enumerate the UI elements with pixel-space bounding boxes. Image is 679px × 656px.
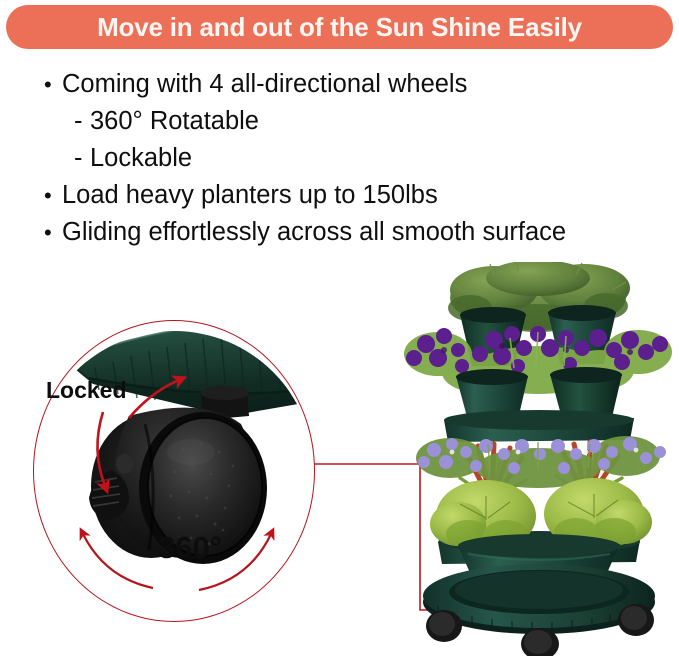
feature-list: • Coming with 4 all-directional wheels -… [44,72,674,257]
planter-tower-image [398,262,679,656]
feature-label: Lockable [90,146,192,172]
tier-purple-petunias [404,326,672,442]
bullet-dash-icon: - [74,146,90,172]
bullet-dot-icon: • [44,185,62,207]
bullet-dot-icon: • [44,222,62,244]
locked-label: Locked [46,379,127,402]
feature-label: Load heavy planters up to 150lbs [62,183,438,209]
page-title: Move in and out of the Sun Shine Easily [97,14,582,40]
tier-lavender-lobelia [416,436,666,488]
wheeled-base-caddy [423,564,655,656]
stackable-planter-illustration [398,262,679,656]
feature-label: 360° Rotatable [90,109,259,135]
bullet-dash-icon: - [74,109,90,135]
list-item: - Lockable [44,146,674,183]
rotation-degree-label: 360° [158,532,222,563]
list-item: • Gliding effortlessly across all smooth… [44,220,674,257]
header-banner: Move in and out of the Sun Shine Easily [6,5,673,49]
list-item: • Load heavy planters up to 150lbs [44,183,674,220]
caster-wheel [618,604,654,636]
bullet-dot-icon: • [44,74,62,96]
callout-ring-circle [33,320,315,622]
feature-label: Gliding effortlessly across all smooth s… [62,220,566,246]
caster-wheel-callout: Locked 360° [33,320,315,622]
list-item: - 360° Rotatable [44,109,674,146]
feature-label: Coming with 4 all-directional wheels [62,72,467,98]
list-item: • Coming with 4 all-directional wheels [44,72,674,109]
caster-wheel [426,610,462,642]
